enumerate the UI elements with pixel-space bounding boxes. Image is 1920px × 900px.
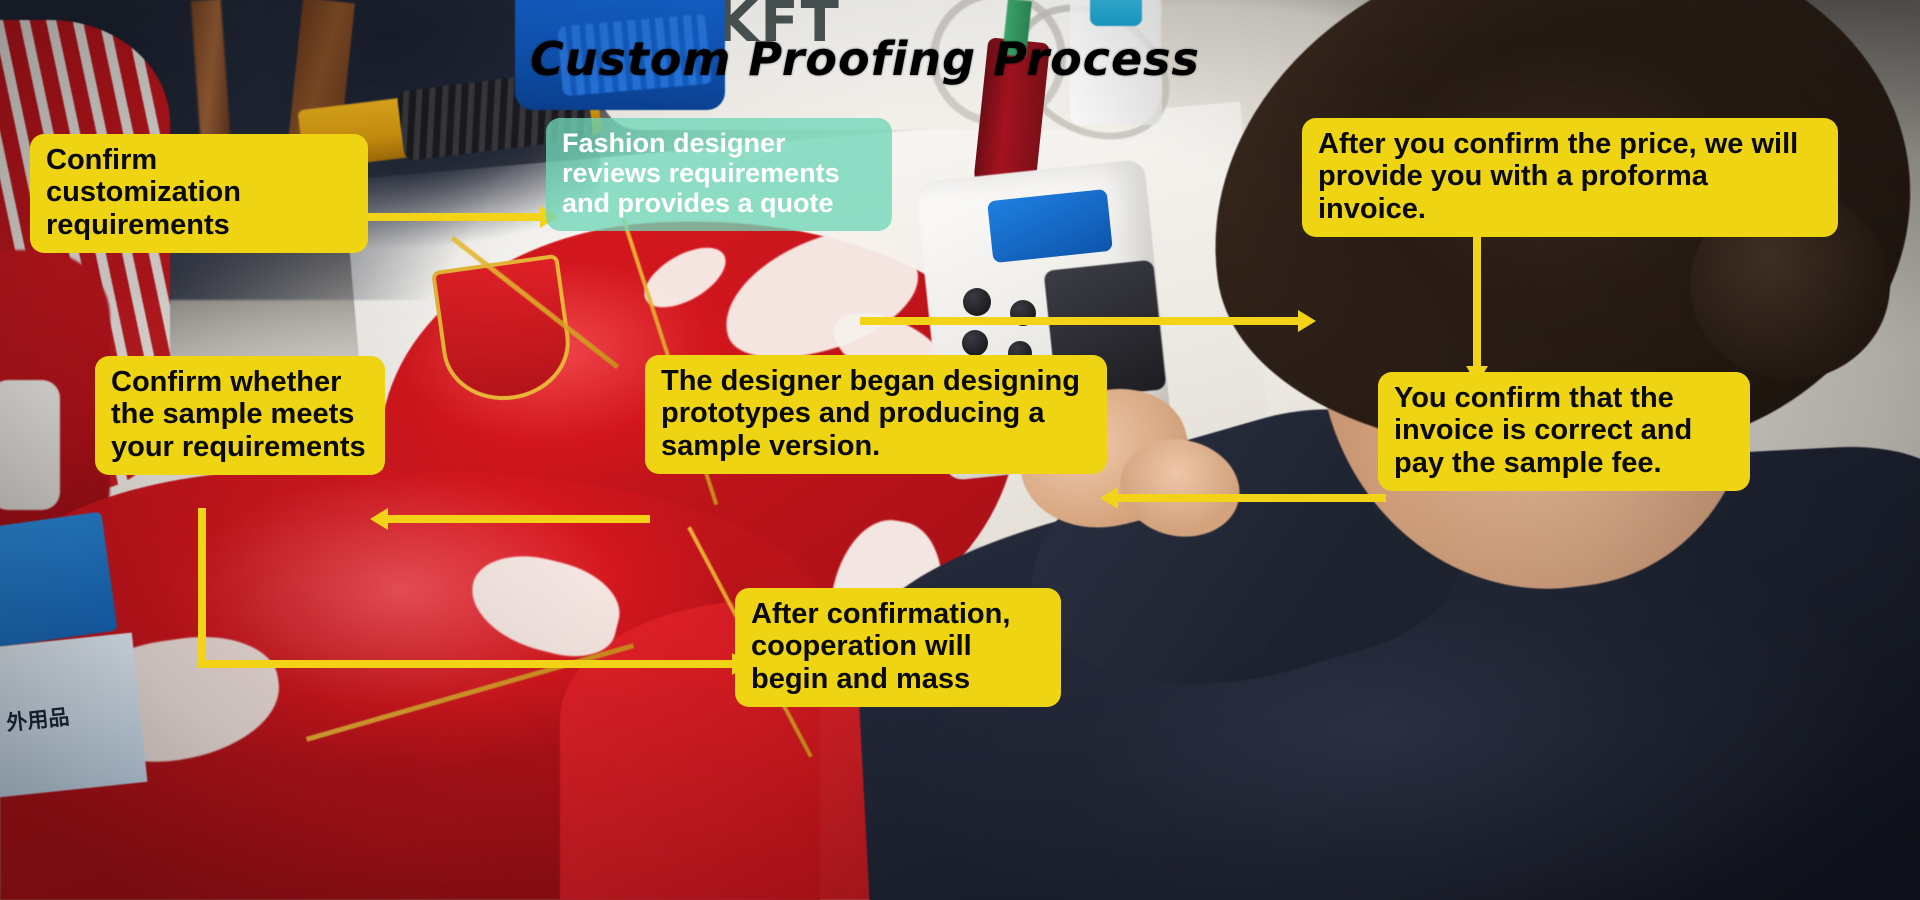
proofing-process-infographic: KFT <box>0 0 1920 900</box>
connector-step3-step4 <box>1466 228 1490 388</box>
connector-step4-step5 <box>1100 487 1386 509</box>
page-title: Custom Proofing Process <box>530 36 1050 82</box>
connector-step1-step2 <box>366 206 562 228</box>
step-box-designer-quote[interactable]: Fashion designer reviews requirements an… <box>546 118 892 231</box>
step-text: Confirm customization requirements <box>46 144 241 241</box>
step-text: You confirm that the invoice is correct … <box>1394 382 1692 479</box>
step-box-confirm-invoice-pay[interactable]: You confirm that the invoice is correct … <box>1378 372 1750 491</box>
step-box-design-prototype[interactable]: The designer began designing prototypes … <box>645 355 1107 474</box>
step-text: Fashion designer reviews requirements an… <box>562 128 840 218</box>
step-text: After you confirm the price, we will pro… <box>1318 128 1798 225</box>
connector-step6-step7 <box>198 508 758 678</box>
connector-step2-step3 <box>860 310 1320 332</box>
flow-overlay: Custom Proofing Process <box>0 0 1920 900</box>
step-text: The designer began designing prototypes … <box>661 365 1080 462</box>
step-text: Confirm whether the sample meets your re… <box>111 366 366 463</box>
step-box-proforma-invoice[interactable]: After you confirm the price, we will pro… <box>1302 118 1838 237</box>
step-box-confirm-sample[interactable]: Confirm whether the sample meets your re… <box>95 356 385 475</box>
step-box-mass-production[interactable]: After confirmation, cooperation will beg… <box>735 588 1061 707</box>
step-box-confirm-requirements[interactable]: Confirm customization requirements <box>30 134 368 253</box>
step-text: After confirmation, cooperation will beg… <box>751 598 1010 695</box>
